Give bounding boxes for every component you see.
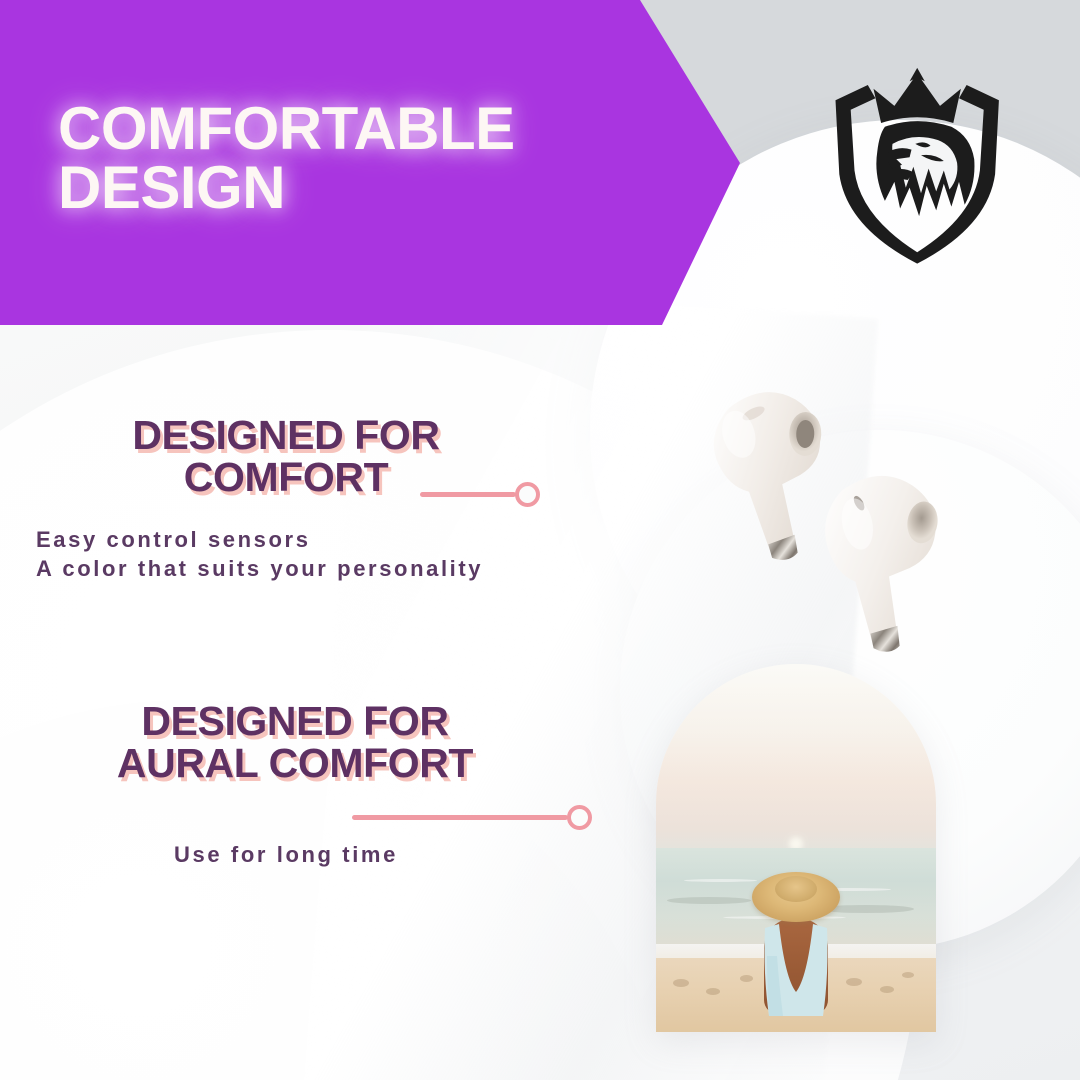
feature-2-rule-endpoint <box>567 805 592 830</box>
photo-woman-swimsuit <box>759 922 833 1016</box>
feature-1-subtext-line2: A color that suits your personality <box>36 554 676 583</box>
feature-2-subtext: Use for long time <box>86 840 486 869</box>
page-title-line1: COMFORTABLE <box>58 100 678 159</box>
feature-2-heading: DESIGNED FOR AURAL COMFORT <box>60 700 530 784</box>
feature-2-rule <box>352 805 592 830</box>
feature-1-rule-endpoint <box>515 482 540 507</box>
feature-2-subtext-line1: Use for long time <box>86 840 486 869</box>
feature-1-subtext-line1: Easy control sensors <box>36 525 676 554</box>
page-title-line2: DESIGN <box>58 159 678 218</box>
photo-sky <box>656 664 936 855</box>
photo-woman-hat-crown <box>775 876 817 902</box>
feature-1-heading-line1: DESIGNED FOR <box>56 414 516 456</box>
feature-1-rule-line <box>420 492 516 497</box>
woman-sitting-on-beach-photo <box>656 664 936 1032</box>
page-title: COMFORTABLE DESIGN <box>58 100 678 218</box>
feature-2-heading-line1: DESIGNED FOR <box>60 700 530 742</box>
feature-1-rule <box>420 482 540 507</box>
feature-2-rule-line <box>352 815 568 820</box>
lion-crown-shield-logo <box>826 56 1016 266</box>
promo-poster: COMFORTABLE DESIGN <box>0 0 1080 1080</box>
feature-2-heading-line2: AURAL COMFORT <box>60 742 530 784</box>
wireless-earbuds-product-photo <box>690 372 980 672</box>
feature-1-subtext: Easy control sensors A color that suits … <box>36 525 676 584</box>
